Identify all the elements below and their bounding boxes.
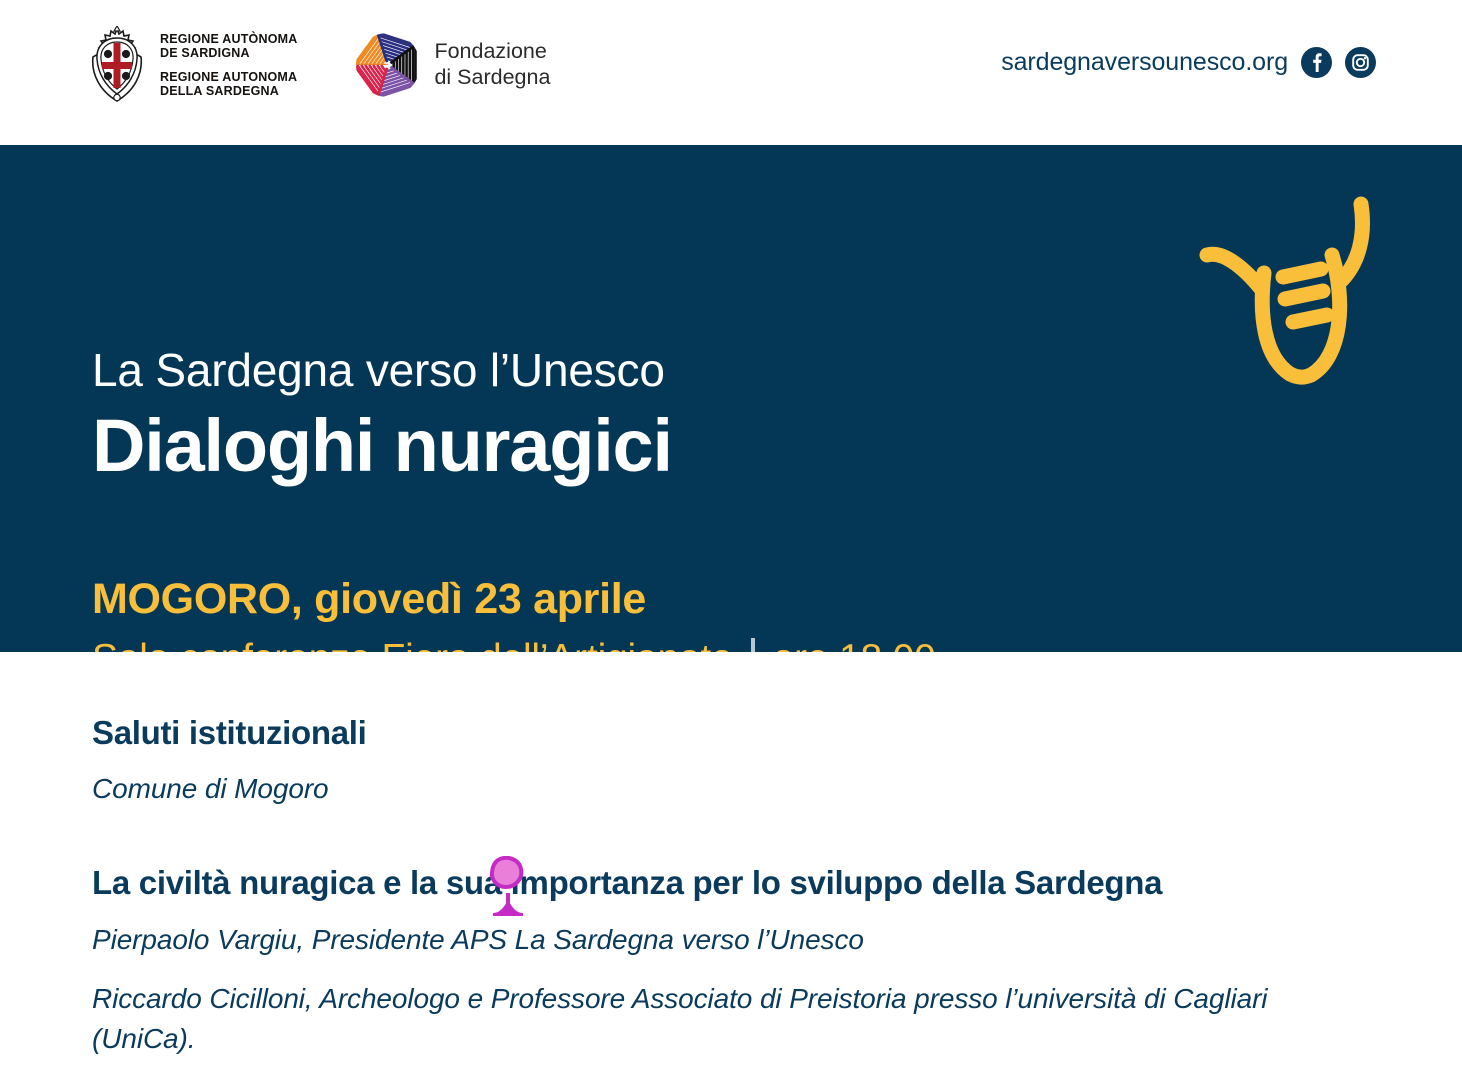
nuragic-bull-icon: [1180, 185, 1400, 405]
website-url[interactable]: sardegnaversounesco.org: [1001, 48, 1288, 77]
fondazione-pinwheel-icon: [355, 32, 421, 98]
regione-it-line1: REGIONE AUTONOMA: [160, 70, 297, 84]
regione-sc-line2: DE SARDIGNA: [160, 46, 250, 60]
header-links: sardegnaversounesco.org: [1001, 47, 1376, 78]
poster-page: REGIONE AUTÒNOMADE SARDIGNA REGIONE AUTO…: [0, 0, 1462, 1088]
fondazione-logo-text: Fondazione di Sardegna: [434, 39, 550, 91]
facebook-icon[interactable]: [1301, 47, 1332, 78]
event-venue-row: Sala conferenze Fiera dell’Artigianato o…: [92, 637, 936, 652]
header-logos: REGIONE AUTÒNOMADE SARDIGNA REGIONE AUTO…: [86, 26, 550, 104]
banner-title: Dialoghi nuragici: [92, 403, 672, 488]
event-city-date: MOGORO, giovedì 23 aprile: [92, 575, 646, 624]
separator-bar: [751, 638, 755, 652]
fondazione-di-sardegna-logo: Fondazione di Sardegna: [355, 32, 550, 98]
greetings-heading: Saluti istituzionali: [92, 714, 367, 752]
speaker-two: Riccardo Cicilloni, Archeologo e Profess…: [92, 979, 1322, 1059]
talk-title: La civiltà nuragica e la sua importanza …: [92, 864, 1162, 902]
sardinia-coat-of-arms-icon: [86, 26, 148, 104]
banner-kicker: La Sardegna verso l’Unesco: [92, 343, 665, 397]
greetings-organization: Comune di Mogoro: [92, 773, 329, 805]
event-banner: La Sardegna verso l’Unesco Dialoghi nura…: [0, 145, 1462, 652]
fondazione-line2: di Sardegna: [434, 65, 550, 89]
instagram-icon[interactable]: [1345, 47, 1376, 78]
fondazione-line1: Fondazione: [434, 39, 546, 63]
speaker-one: Pierpaolo Vargiu, Presidente APS La Sard…: [92, 924, 864, 956]
event-venue: Sala conferenze Fiera dell’Artigianato: [92, 637, 733, 652]
regione-logo-sardinian: REGIONE AUTÒNOMADE SARDIGNA: [160, 32, 297, 61]
regione-logo-text: REGIONE AUTÒNOMADE SARDIGNA REGIONE AUTO…: [160, 32, 297, 99]
event-time: ore 18.00: [773, 637, 936, 652]
regione-it-line2: DELLA SARDEGNA: [160, 84, 279, 98]
regione-sardegna-logo: REGIONE AUTÒNOMADE SARDIGNA REGIONE AUTO…: [86, 26, 297, 104]
regione-sc-line1: REGIONE AUTÒNOMA: [160, 32, 297, 46]
page-header: REGIONE AUTÒNOMADE SARDIGNA REGIONE AUTO…: [0, 0, 1462, 145]
regione-logo-italian: REGIONE AUTONOMADELLA SARDEGNA: [160, 70, 297, 99]
